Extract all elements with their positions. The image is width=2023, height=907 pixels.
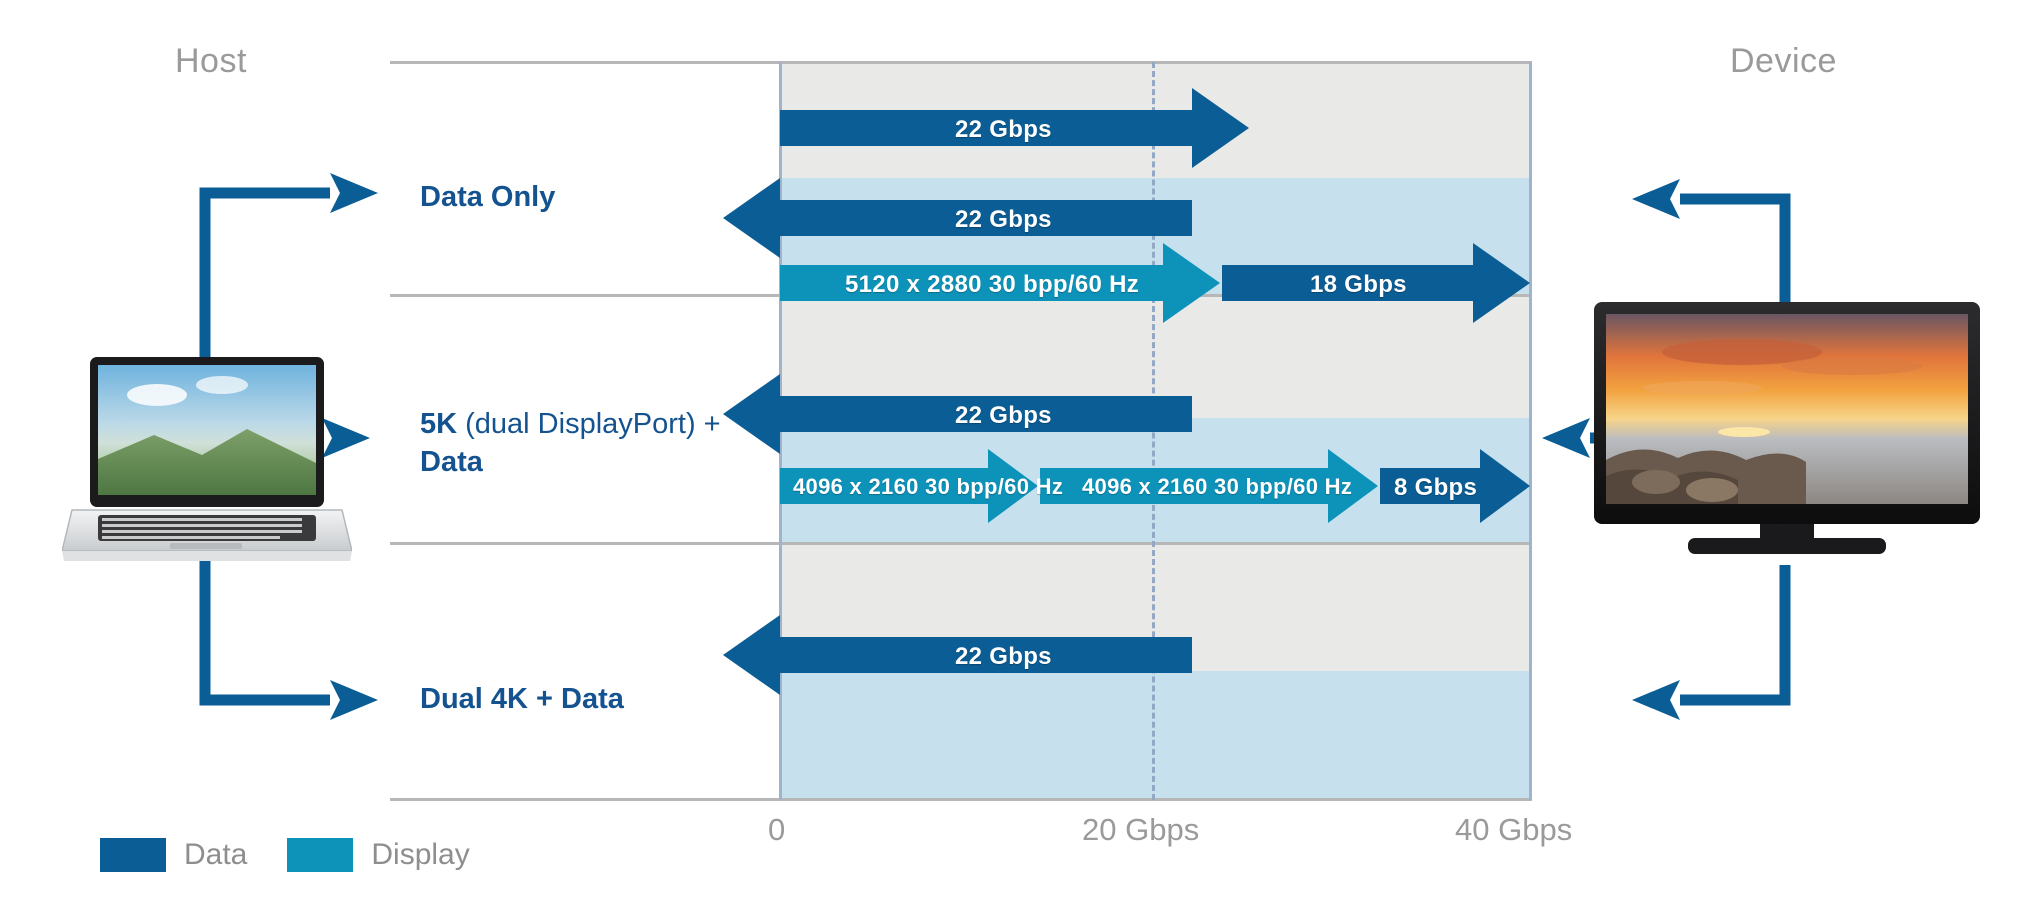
row-3-downstream-label: 22 Gbps — [955, 643, 1052, 671]
row-3-upstream-display-label-2: 4096 x 2160 30 bpp/60 Hz — [1082, 474, 1352, 500]
legend-swatch-data — [100, 838, 166, 872]
row-1-upstream-label: 22 Gbps — [955, 116, 1052, 144]
row-2-upstream-data-label: 18 Gbps — [1310, 271, 1407, 299]
device-tv-image — [1592, 300, 1982, 570]
host-laptop-image — [62, 355, 352, 565]
legend-label-data: Data — [184, 838, 247, 872]
legend-label-display: Display — [371, 838, 469, 872]
row-3-upstream-display-label-1: 4096 x 2160 30 bpp/60 Hz — [793, 474, 1063, 500]
legend-swatch-display — [287, 838, 353, 872]
row-1-downstream-label: 22 Gbps — [955, 206, 1052, 234]
row-2-upstream-display-label: 5120 x 2880 30 bpp/60 Hz — [845, 271, 1139, 299]
row-2-downstream-label: 22 Gbps — [955, 402, 1052, 430]
chart-legend: Data Display — [100, 838, 492, 872]
row-3-upstream-data-label: 8 Gbps — [1394, 474, 1477, 502]
